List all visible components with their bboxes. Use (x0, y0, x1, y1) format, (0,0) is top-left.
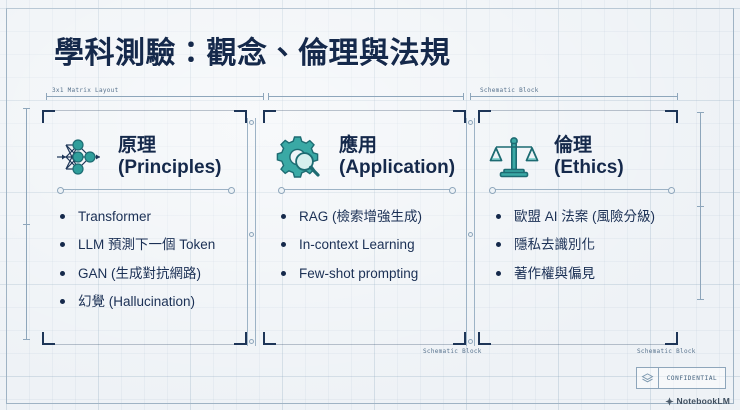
neural-network-icon (52, 131, 104, 183)
list-item: 幻覺 (Hallucination) (56, 293, 239, 310)
card-edge-top (491, 110, 665, 111)
card-header-application: 應用 (Application) (273, 122, 460, 192)
card-edge-bottom (276, 344, 453, 345)
bullet-list-application: RAG (檢索增強生成) In-context Learning Few-sho… (277, 208, 458, 293)
dimension-line-col1 (46, 96, 264, 97)
corner-bracket (263, 332, 276, 345)
rail-node (249, 232, 254, 237)
rail-node (468, 120, 473, 125)
slide-title: 學科測驗：觀念、倫理與法規 (54, 28, 451, 72)
list-item: Transformer (56, 208, 239, 225)
annotation-schematic-block-bottom-mid: Schematic Block (423, 348, 482, 355)
annotation-schematic-block-bottom-right: Schematic Block (637, 348, 696, 355)
bullet-list-principles: Transformer LLM 預測下一個 Token GAN (生成對抗網路)… (56, 208, 239, 321)
corner-bracket (42, 332, 55, 345)
rail-node (249, 339, 254, 344)
card-title-zh: 倫理 (554, 135, 592, 156)
card-ethics[interactable]: 倫理 (Ethics) 歐盟 AI 法案 (風險分級) 隱私去識別化 著作權與偏… (478, 110, 678, 345)
balance-scales-icon (488, 131, 540, 183)
dimension-tick-mid-right (697, 206, 704, 207)
dimension-line-col3 (470, 96, 678, 97)
card-edge-top (276, 110, 453, 111)
corner-bracket (453, 332, 466, 345)
layers-icon (637, 368, 659, 388)
dimension-line-col2 (268, 96, 464, 97)
list-item: RAG (檢索增強生成) (277, 208, 458, 225)
gear-magnifier-icon (273, 131, 325, 183)
notebooklm-sparkle-icon (665, 397, 674, 406)
corner-bracket (665, 332, 678, 345)
bullet-list-ethics: 歐盟 AI 法案 (風險分級) 隱私去識別化 著作權與偏見 (492, 208, 670, 293)
annotation-matrix-layout: 3x1 Matrix Layout (52, 87, 119, 94)
list-item: LLM 預測下一個 Token (56, 236, 239, 253)
list-item: GAN (生成對抗網路) (56, 265, 239, 282)
list-item: Few-shot prompting (277, 265, 458, 282)
confidential-stamp: CONFIDENTIAL (636, 367, 726, 389)
rail-node (468, 339, 473, 344)
card-principles[interactable]: 原理 (Principles) Transformer LLM 預測下一個 To… (42, 110, 247, 345)
corner-bracket (478, 332, 491, 345)
card-application[interactable]: 應用 (Application) RAG (檢索增強生成) In-context… (263, 110, 466, 345)
list-item: In-context Learning (277, 236, 458, 253)
card-title-en: (Ethics) (554, 157, 624, 179)
dimension-line-left-vertical (26, 108, 27, 340)
annotation-schematic-block-top: Schematic Block (480, 87, 539, 94)
card-header-principles: 原理 (Principles) (52, 122, 241, 192)
card-title-zh: 原理 (118, 135, 156, 156)
card-title-ethics: 倫理 (Ethics) (554, 135, 624, 179)
dimension-tick-mid-left (23, 224, 30, 225)
dimension-line-right-vertical (700, 112, 701, 300)
card-edge-top (55, 110, 234, 111)
corner-bracket (234, 332, 247, 345)
confidential-label: CONFIDENTIAL (659, 368, 725, 388)
card-title-principles: 原理 (Principles) (118, 135, 221, 179)
card-title-en: (Application) (339, 157, 455, 179)
slide-canvas: 學科測驗：觀念、倫理與法規 3x1 Matrix Layout Schemati… (0, 0, 740, 410)
card-title-zh: 應用 (339, 135, 377, 156)
card-edge-bottom (55, 344, 234, 345)
brand-notebooklm: NotebookLM (665, 396, 730, 406)
list-item: 隱私去識別化 (492, 236, 670, 253)
guide-rail-2 (466, 118, 475, 346)
card-title-en: (Principles) (118, 157, 221, 179)
rail-node (468, 232, 473, 237)
card-edge-bottom (491, 344, 665, 345)
card-header-ethics: 倫理 (Ethics) (488, 122, 672, 192)
card-title-application: 應用 (Application) (339, 135, 455, 179)
list-item: 著作權與偏見 (492, 265, 670, 282)
list-item: 歐盟 AI 法案 (風險分級) (492, 208, 670, 225)
rail-node (249, 120, 254, 125)
guide-rail-1 (247, 118, 256, 346)
brand-label: NotebookLM (677, 396, 730, 406)
